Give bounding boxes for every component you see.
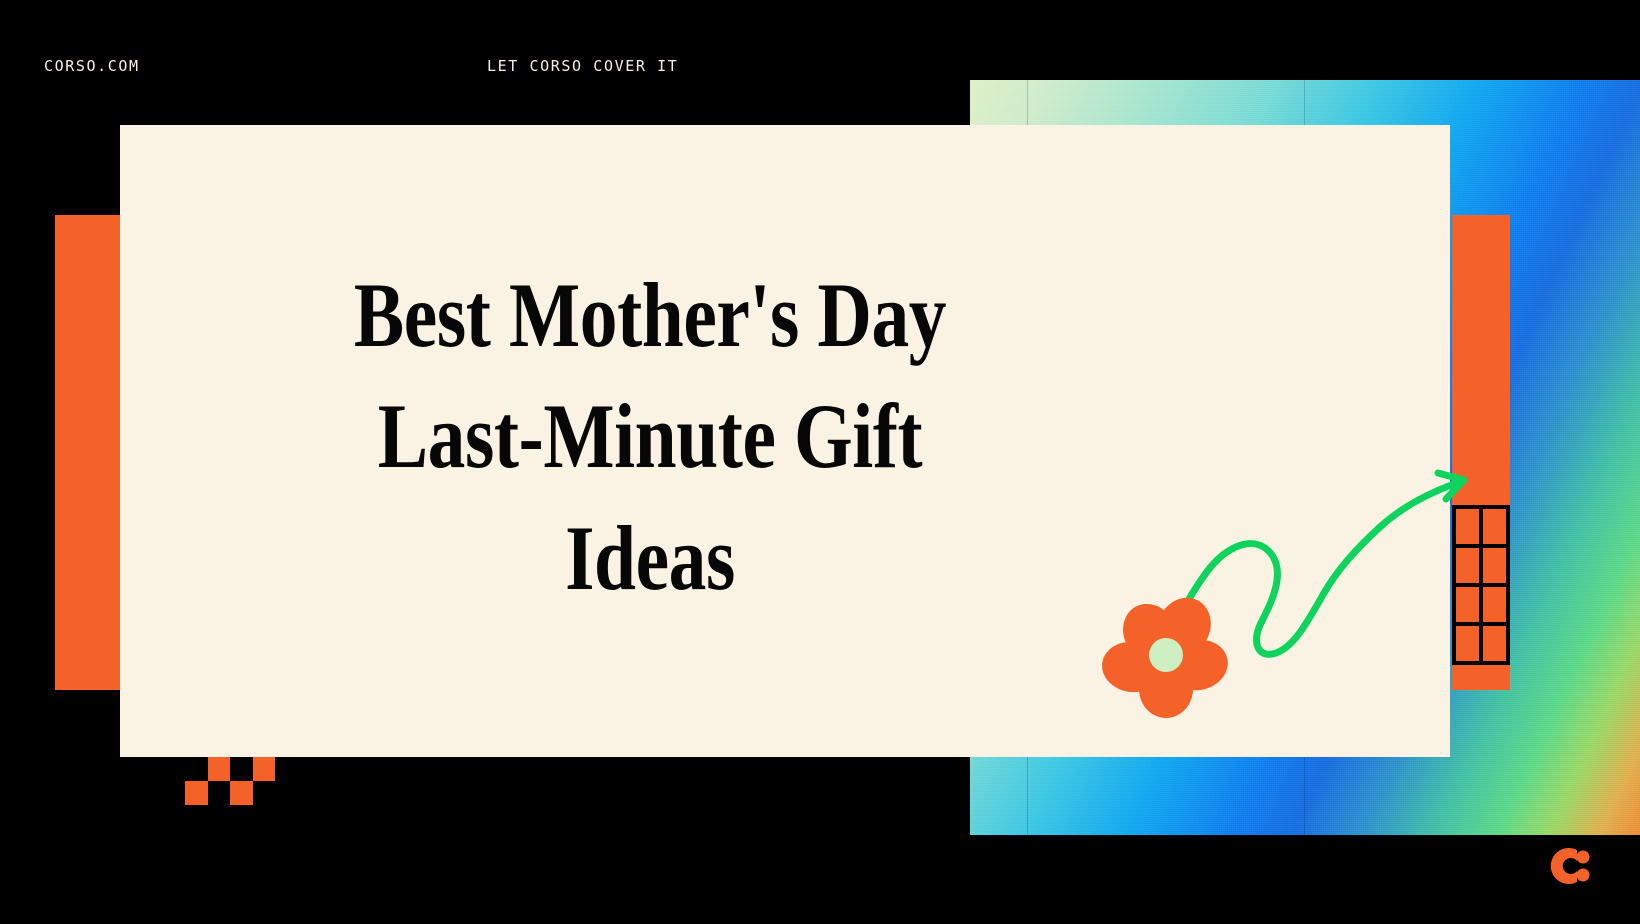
header-bar: CORSO.COM LET CORSO COVER IT (0, 0, 1640, 110)
grid-cell (1483, 626, 1506, 661)
grid-cell (1483, 587, 1506, 622)
headline-line-3: Ideas (289, 498, 1011, 619)
grid-cell (1483, 548, 1506, 583)
grid-pattern (1452, 505, 1510, 665)
checker-cell (185, 757, 208, 781)
grid-cell (1483, 509, 1506, 544)
headline-line-1: Best Mother's Day (289, 255, 1011, 376)
squiggle-arrow-icon (1158, 473, 1464, 657)
grid-cell (1456, 509, 1479, 544)
decorative-art (1080, 445, 1500, 725)
slide-canvas: CORSO.COM LET CORSO COVER IT Best Mother… (0, 0, 1640, 924)
corso-logo-icon[interactable] (1537, 838, 1593, 894)
content-card: Best Mother's Day Last-Minute Gift Ideas (120, 125, 1450, 757)
checkerboard-pattern (185, 757, 275, 805)
checker-cell (208, 757, 231, 781)
checker-cell (208, 781, 231, 805)
grid-cell (1456, 626, 1479, 661)
brand-url[interactable]: CORSO.COM (44, 57, 140, 75)
checker-cell (253, 781, 276, 805)
grid-cell (1456, 548, 1479, 583)
checker-cell (185, 781, 208, 805)
checker-cell (253, 757, 276, 781)
checker-cell (230, 781, 253, 805)
checker-cell (230, 757, 253, 781)
tagline: LET CORSO COVER IT (487, 57, 678, 75)
five-petal-flower-icon (1099, 589, 1233, 718)
headline-line-2: Last-Minute Gift (289, 376, 1011, 497)
grid-cell (1456, 587, 1479, 622)
page-title: Best Mother's Day Last-Minute Gift Ideas (289, 255, 1011, 619)
